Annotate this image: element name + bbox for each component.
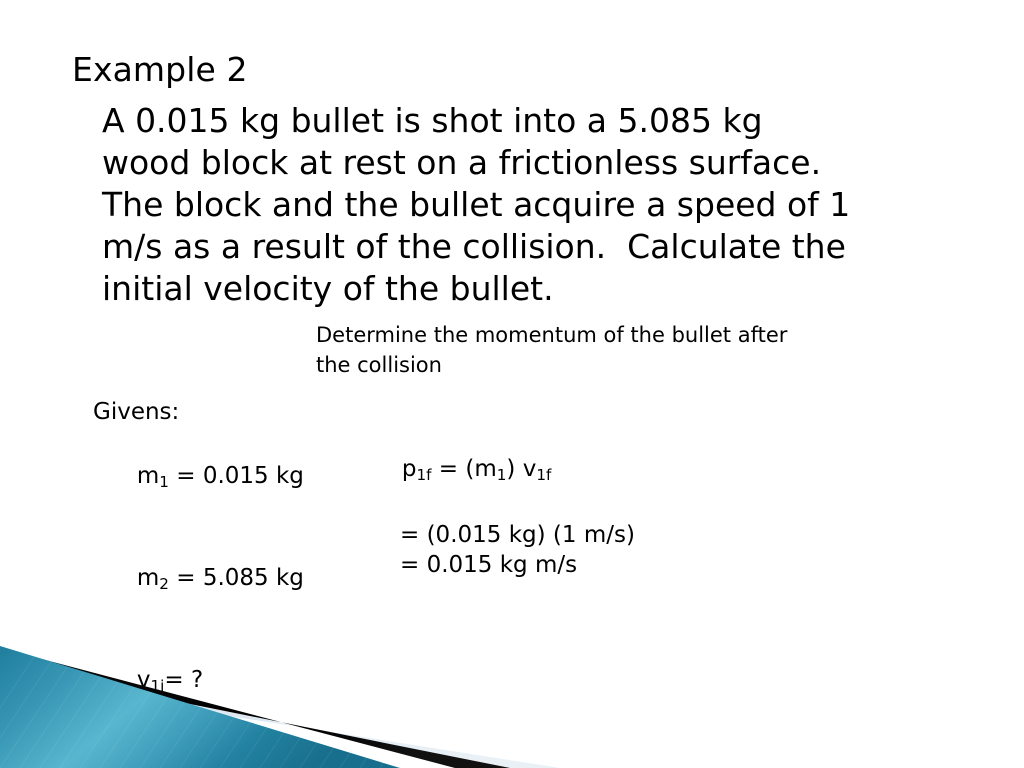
problem-line-1: A 0.015 kg bullet is shot into a 5.085 k…	[102, 100, 982, 142]
problem-line-3: The block and the bullet acquire a speed…	[102, 184, 982, 226]
given-symbol: v	[137, 667, 151, 693]
given-row: v1i= ?	[93, 632, 304, 734]
work-line-3: = 0.015 kg m/s	[358, 550, 635, 580]
work-subscript-velocity: 1f	[536, 466, 551, 484]
given-value: = 5.085 kg	[169, 565, 304, 591]
given-row: m1 = 0.015 kg	[93, 428, 304, 530]
sub-prompt-line-2: the collision	[316, 350, 916, 380]
work-tail: ) v	[506, 456, 536, 482]
given-subscript: 1i	[151, 677, 165, 695]
work-line-2: = (0.015 kg) (1 m/s)	[358, 520, 635, 550]
work-subscript: 1f	[416, 466, 431, 484]
given-symbol: m	[137, 463, 159, 489]
given-row: m2 = 5.085 kg	[93, 530, 304, 632]
work-symbol: p	[402, 456, 417, 482]
givens-list: Givens: m1 = 0.015 kg m2 = 5.085 kg v1i=…	[93, 396, 304, 768]
givens-heading: Givens:	[93, 396, 304, 428]
page-title: Example 2	[72, 50, 248, 90]
given-subscript: 2	[159, 575, 169, 593]
given-value: = ?	[164, 667, 203, 693]
worked-solution: p1f = (m1) v1f = (0.015 kg) (1 m/s) = 0.…	[358, 424, 635, 580]
work-subscript-mass: 1	[497, 466, 507, 484]
given-value: = 0.015 kg	[169, 463, 304, 489]
problem-statement: A 0.015 kg bullet is shot into a 5.085 k…	[102, 100, 982, 310]
sub-prompt: Determine the momentum of the bullet aft…	[316, 320, 916, 380]
problem-line-5: initial velocity of the bullet.	[102, 268, 982, 310]
problem-line-4: m/s as a result of the collision. Calcul…	[102, 226, 982, 268]
work-line-1: p1f = (m1) v1f	[358, 424, 635, 520]
sub-prompt-line-1: Determine the momentum of the bullet aft…	[316, 320, 916, 350]
given-symbol: m	[137, 565, 159, 591]
problem-line-2: wood block at rest on a frictionless sur…	[102, 142, 982, 184]
presentation-slide: Example 2 A 0.015 kg bullet is shot into…	[0, 0, 1024, 768]
given-subscript: 1	[159, 473, 169, 491]
work-mid: = (m	[431, 456, 496, 482]
given-row: v2i= 0 m/s	[93, 734, 304, 768]
